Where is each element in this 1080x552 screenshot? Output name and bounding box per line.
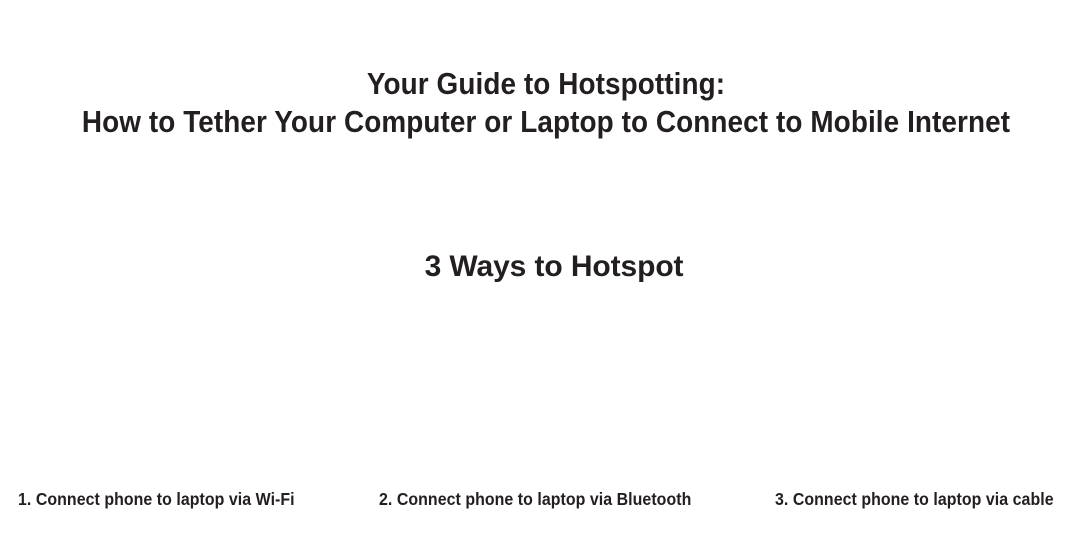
article-page: Your Guide to Hotspotting: How to Tether… <box>0 0 1080 552</box>
caption-row: 1. Connect phone to laptop via Wi-Fi 2. … <box>0 488 1080 514</box>
illustration-cable <box>720 276 1080 476</box>
illustration-wifi <box>0 276 360 476</box>
hotspot-illustration-band <box>0 276 1080 476</box>
caption-bluetooth: 2. Connect phone to laptop via Bluetooth <box>379 488 691 510</box>
illustration-bluetooth <box>360 276 720 476</box>
caption-wifi: 1. Connect phone to laptop via Wi-Fi <box>18 488 295 510</box>
page-title-line-2: How to Tether Your Computer or Laptop to… <box>55 103 1038 141</box>
caption-cable: 3. Connect phone to laptop via cable <box>775 488 1054 510</box>
page-title: Your Guide to Hotspotting: How to Tether… <box>55 65 1038 141</box>
page-title-line-1: Your Guide to Hotspotting: <box>55 65 1038 103</box>
